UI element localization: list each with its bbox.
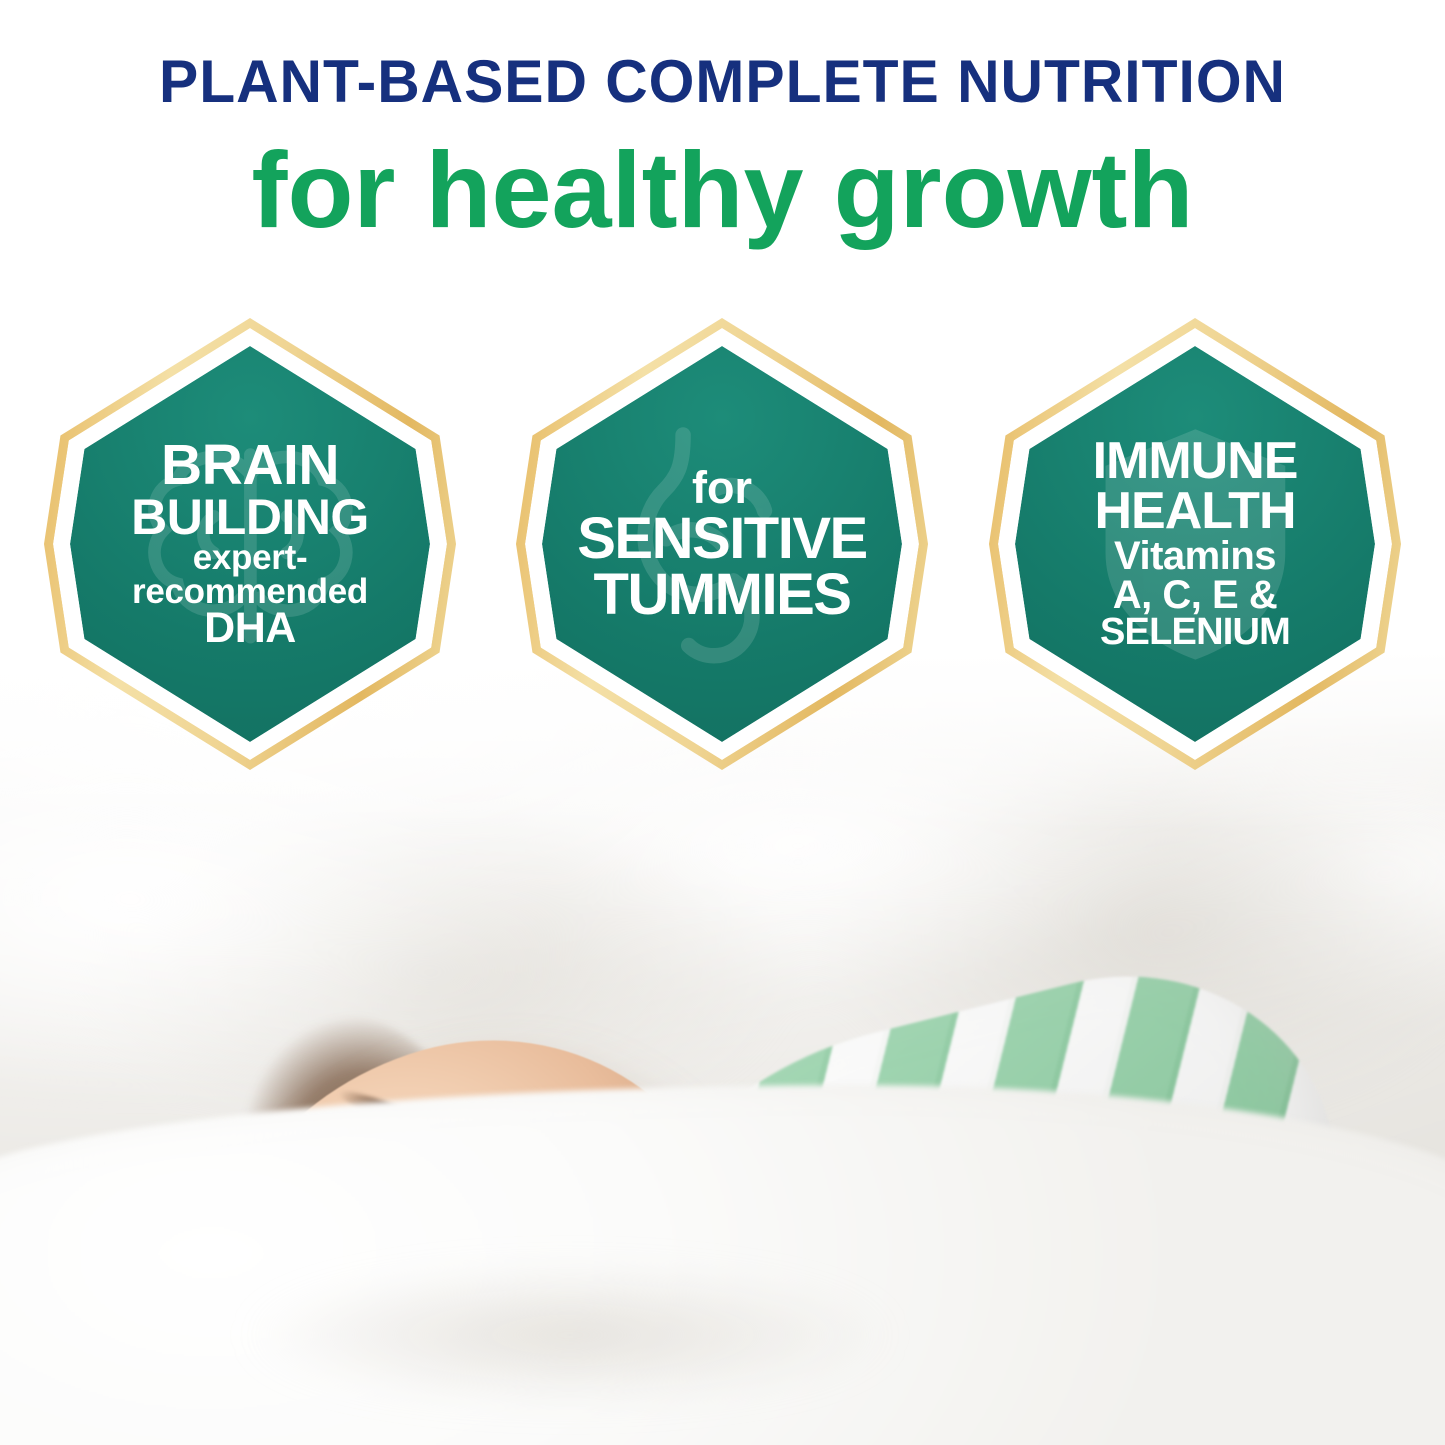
badge-line: for	[692, 466, 752, 509]
badge-line: SELENIUM	[1100, 614, 1290, 650]
badge-line: IMMUNE	[1093, 437, 1298, 487]
badge-line: BUILDING	[131, 493, 369, 541]
badge-sensitive-tummies: for SENSITIVE TUMMIES	[516, 318, 928, 770]
badge-line: SENSITIVE	[577, 511, 866, 567]
badge-line: DHA	[204, 608, 296, 649]
badge-line: expert-	[193, 541, 308, 575]
page-subheadline: for healthy growth	[0, 136, 1445, 244]
page-headline: PLANT-BASED COMPLETE NUTRITION	[14, 52, 1430, 112]
badge-line: HEALTH	[1094, 487, 1295, 537]
badge-sensitive-tummies-text: for SENSITIVE TUMMIES	[542, 346, 902, 742]
badge-line: Vitamins	[1114, 537, 1276, 575]
badge-immune-health: IMMUNE HEALTH Vitamins A, C, E & SELENIU…	[989, 318, 1401, 770]
badge-brain-building-text: BRAIN BUILDING expert- recommended DHA	[70, 346, 430, 742]
badge-line: A, C, E &	[1113, 576, 1277, 614]
product-marketing-poster: PLANT-BASED COMPLETE NUTRITION for healt…	[0, 0, 1445, 1445]
badge-line: recommended	[132, 575, 368, 609]
bedding-crease	[120, 1255, 1020, 1415]
badge-line: TUMMIES	[594, 567, 851, 623]
benefit-badges: BRAIN BUILDING expert- recommended DHA	[0, 318, 1445, 778]
badge-immune-health-text: IMMUNE HEALTH Vitamins A, C, E & SELENIU…	[1015, 346, 1375, 742]
badge-brain-building: BRAIN BUILDING expert- recommended DHA	[44, 318, 456, 770]
badge-line: BRAIN	[161, 438, 339, 493]
